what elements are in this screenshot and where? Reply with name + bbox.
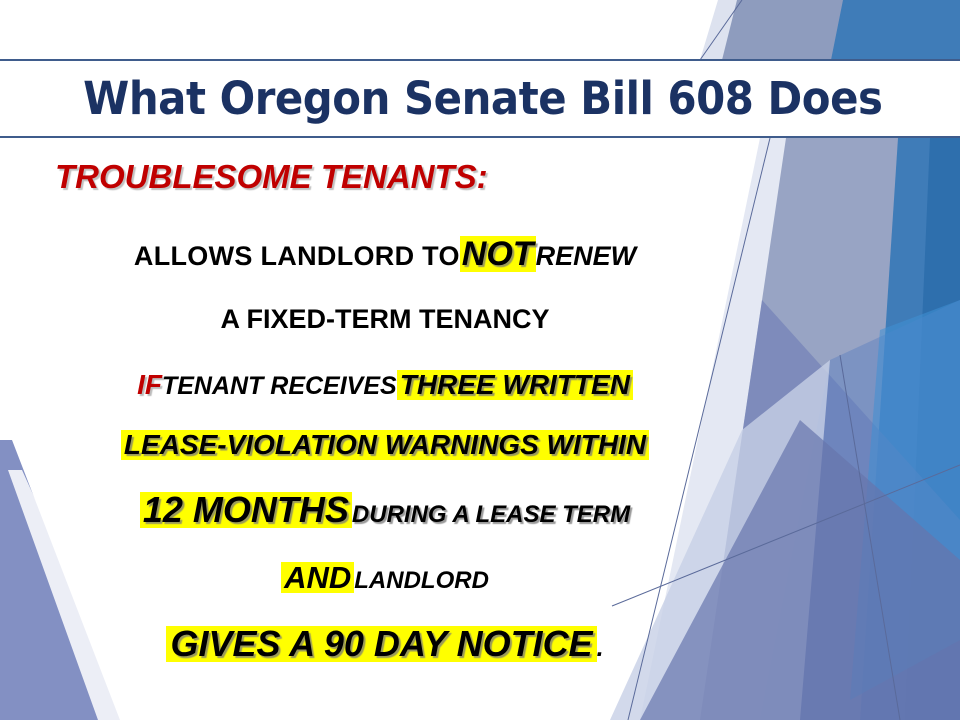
body-line-if: IF TENANT RECEIVES THREE WRITTEN: [0, 370, 770, 400]
body-line-gives-notice: GIVES A 90 DAY NOTICE.: [0, 626, 770, 662]
deco-shape-top-pale: [700, 0, 760, 60]
text-landlord: LANDLORD: [354, 569, 489, 593]
deco-wedge-periwinkle-b: [760, 300, 960, 720]
deco-wedge-lightblue: [850, 300, 960, 700]
deco-shape-right-steel: [860, 138, 960, 720]
body-line-fixed-term: A FIXED-TERM TENANCY: [0, 306, 770, 333]
title-bar: What Oregon Senate Bill 608 Does: [0, 59, 960, 138]
page-title: What Oregon Senate Bill 608 Does: [34, 76, 927, 121]
body-line-months: 12 MONTHS DURING A LEASE TERM: [0, 492, 770, 528]
slide-canvas: What Oregon Senate Bill 608 Does TROUBLE…: [0, 0, 960, 720]
body-line-allows: ALLOWS LANDLORD TO NOT RENEW: [0, 236, 770, 272]
body-heading-line: TROUBLESOME TENANTS:: [55, 160, 825, 193]
deco-shape-top-steel: [831, 0, 960, 60]
deco-hairline-4: [840, 355, 900, 720]
highlight-three-written: THREE WRITTEN: [397, 370, 633, 400]
deco-hairline-1: [700, 0, 742, 60]
body-heading-text: TROUBLESOME TENANTS:: [55, 160, 488, 193]
highlight-not: NOT: [460, 236, 536, 272]
text-if: IF: [137, 371, 162, 399]
highlight-and: AND: [281, 562, 354, 593]
text-during-a-lease-term: DURING A LEASE TERM: [352, 503, 630, 527]
text-allows-landlord-to: ALLOWS LANDLORD TO: [134, 243, 460, 270]
body-line-and-landlord: AND LANDLORD: [0, 562, 770, 593]
slide-body: TROUBLESOME TENANTS: ALLOWS LANDLORD TO …: [0, 148, 770, 708]
text-renew: RENEW: [536, 243, 637, 270]
body-line-lease-violation: LEASE-VIOLATION WARNINGS WITHIN: [0, 430, 770, 460]
text-period: .: [597, 636, 604, 661]
highlight-lease-violation-warnings-within: LEASE-VIOLATION WARNINGS WITHIN: [121, 430, 649, 460]
highlight-12-months: 12 MONTHS: [140, 492, 352, 528]
text-tenant-receives: TENANT RECEIVES: [162, 374, 397, 399]
highlight-gives-a-90-day-notice: GIVES A 90 DAY NOTICE: [166, 626, 596, 662]
deco-shape-top-grayblue: [722, 0, 845, 60]
text-a-fixed-term-tenancy: A FIXED-TERM TENANCY: [221, 306, 550, 333]
deco-shape-right-deepblue: [905, 138, 960, 720]
